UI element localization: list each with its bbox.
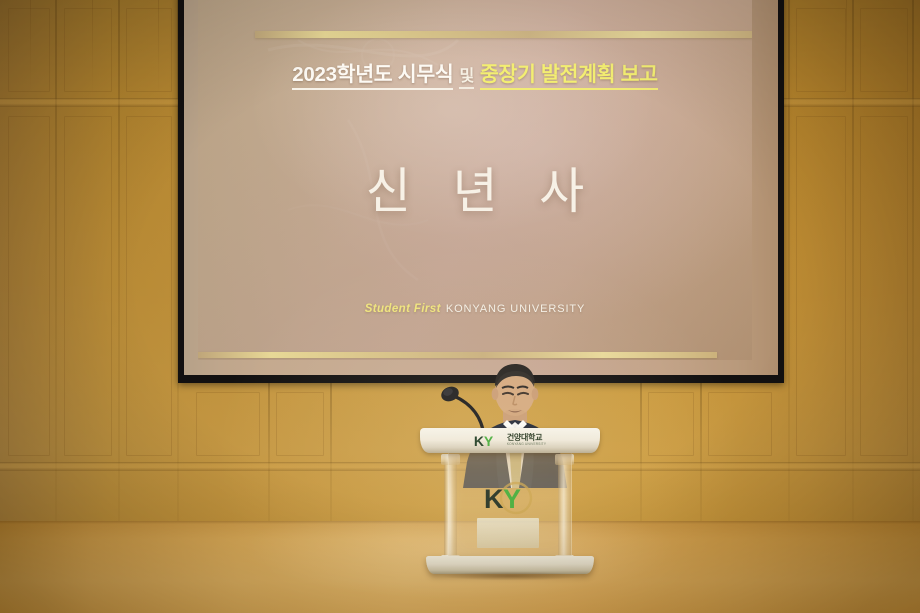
podium-paper-document: [477, 518, 539, 548]
wall-seam: [268, 380, 270, 524]
podium-floor-shadow: [418, 570, 604, 582]
projection-screen-surface: 2023학년도 시무식및중장기 발전계획 보고 신 년 사 Student Fi…: [184, 0, 778, 375]
wall-seam: [640, 380, 642, 524]
podium-top-surface: K Y 건양대학교 KONYANG UNIVERSITY: [420, 428, 600, 453]
wall-panel-inset: [860, 8, 908, 92]
wall-panel-inset: [8, 8, 50, 92]
podium: K Y K Y 건양대학교 KONYANG UNIVERSITY: [398, 428, 622, 586]
nameplate-letter-y: Y: [484, 433, 494, 448]
slide-tagline-highlight: Student First: [365, 303, 441, 315]
wall-seam: [912, 0, 914, 524]
wall-panel-inset: [126, 116, 172, 456]
slide-title: 2023학년도 시무식및중장기 발전계획 보고: [198, 57, 752, 87]
wall-panel-inset: [64, 8, 112, 92]
emblem-letter-y: Y: [503, 484, 521, 514]
wall-seam: [852, 0, 854, 524]
slide-tagline-institution: KONYANG UNIVERSITY: [446, 303, 585, 315]
wall-panel-inset: [8, 116, 50, 456]
wall-seam: [788, 0, 790, 524]
slide-tagline: Student FirstKONYANG UNIVERSITY: [198, 303, 752, 315]
wall-panel-inset: [196, 392, 260, 456]
podium-emblem: K Y: [482, 480, 538, 521]
wall-panel-inset: [64, 116, 112, 456]
stage-photograph-scene: 2023학년도 시무식및중장기 발전계획 보고 신 년 사 Student Fi…: [0, 0, 920, 613]
wall-panel-inset: [126, 8, 172, 92]
presentation-slide: 2023학년도 시무식및중장기 발전계획 보고 신 년 사 Student Fi…: [198, 0, 752, 360]
slide-gold-bar-top: [255, 31, 752, 38]
wall-panel-inset: [708, 392, 772, 456]
slide-title-primary: 2023학년도 시무식: [292, 63, 453, 90]
slide-title-connector: 및: [459, 68, 473, 89]
nameplate-letter-k: K: [474, 433, 484, 448]
wall-panel-inset: [648, 392, 694, 456]
wall-panel-inset: [796, 8, 846, 92]
emblem-letter-k: K: [484, 484, 504, 514]
slide-title-highlight: 중장기 발전계획 보고: [480, 63, 658, 90]
wall-panel-inset: [796, 116, 846, 456]
nameplate-english-name: KONYANG UNIVERSITY: [507, 443, 546, 446]
wall-panel-inset: [860, 116, 908, 456]
wall-seam: [118, 0, 120, 524]
wall-seam: [55, 0, 57, 524]
wall-seam: [330, 380, 332, 524]
wall-panel-inset: [276, 392, 324, 456]
nameplate-korean-name: 건양대학교: [507, 434, 546, 442]
wall-seam: [700, 380, 702, 524]
slide-main-heading: 신 년 사: [198, 152, 752, 223]
podium-nameplate: K Y 건양대학교 KONYANG UNIVERSITY: [474, 433, 546, 448]
